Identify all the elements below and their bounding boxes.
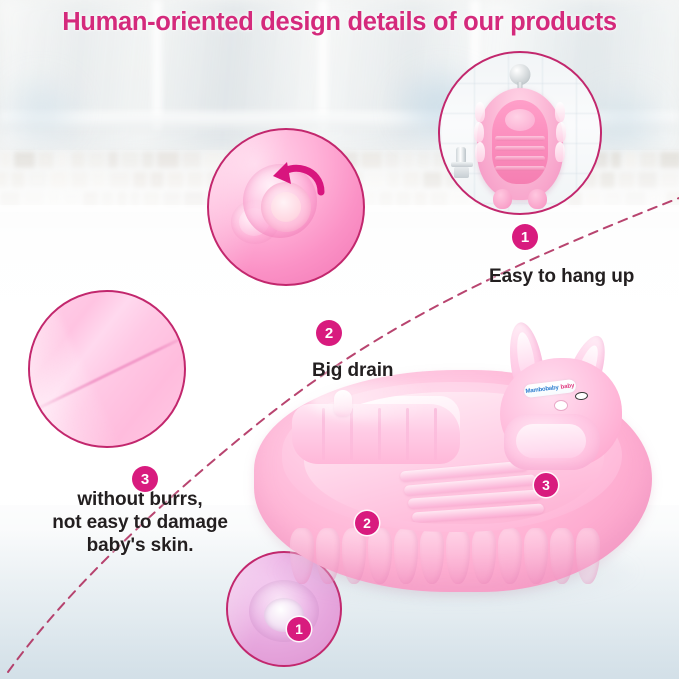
- faucet-icon: [451, 147, 473, 179]
- mini-tub-foot: [493, 189, 512, 209]
- twist-arrow-icon: [271, 158, 329, 200]
- hanging-tub-inset: [438, 51, 602, 215]
- callout-badge-3[interactable]: 3: [132, 466, 158, 492]
- mini-tub-outer: [477, 88, 563, 200]
- gloss-highlight: [308, 380, 458, 420]
- callout-label-line-2: not easy to damage: [25, 511, 255, 534]
- mini-backrest: [505, 109, 535, 131]
- background-blur-blob: [12, 84, 70, 136]
- bunny-nose: [554, 400, 568, 411]
- infographic-canvas: Human-oriented design details of our pro…: [0, 0, 679, 679]
- callout-label-easy-to-hang-up: Easy to hang up: [489, 266, 634, 288]
- mini-tub-foot: [528, 189, 547, 209]
- page-title: Human-oriented design details of our pro…: [0, 8, 679, 37]
- mini-tub-inner: [492, 100, 548, 184]
- callout-label-big-drain: Big drain: [312, 360, 393, 382]
- product-marker-badge-1[interactable]: 1: [287, 617, 311, 641]
- callout-label-line-3: baby's skin.: [25, 534, 255, 557]
- product-marker-badge-2[interactable]: 2: [355, 511, 379, 535]
- brand-logo-part2: baby: [560, 383, 575, 391]
- gloss-highlight: [28, 290, 122, 448]
- product-bathtub: Mambobaby baby: [248, 330, 660, 630]
- drain-closeup-inset: [207, 128, 365, 286]
- product-marker-badge-3[interactable]: 3: [534, 473, 558, 497]
- smooth-seam-inset: [28, 290, 186, 448]
- callout-badge-2[interactable]: 2: [316, 320, 342, 346]
- callout-label-without-burrs: without burrs, not easy to damage baby's…: [25, 488, 255, 558]
- brand-logo-part1: Mambobaby: [525, 384, 559, 394]
- tub-headrest-pillow: [504, 414, 600, 470]
- callout-label-line-1: without burrs,: [25, 488, 255, 511]
- callout-badge-1[interactable]: 1: [512, 224, 538, 250]
